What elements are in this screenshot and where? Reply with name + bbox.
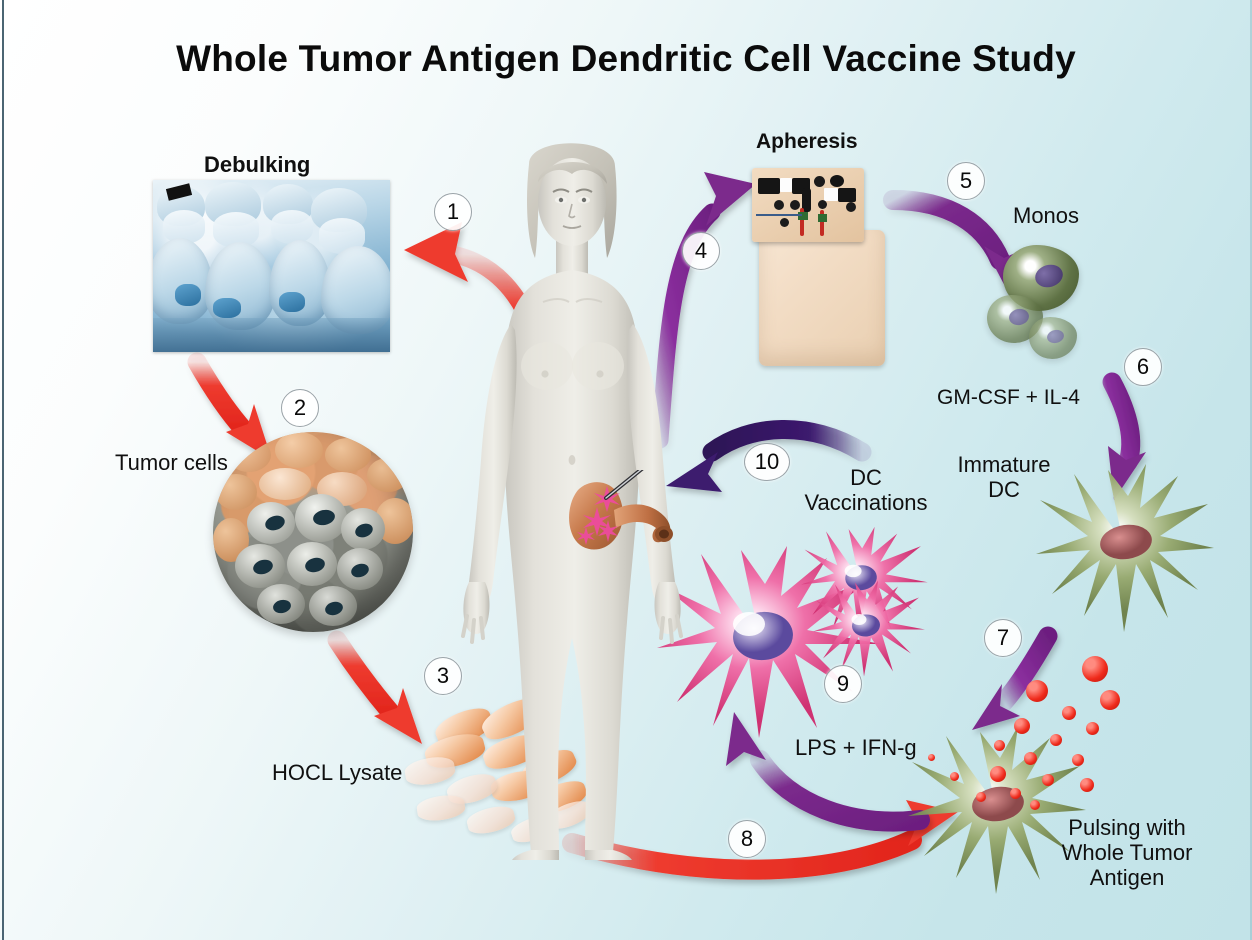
monocyte-cluster (985, 243, 1135, 373)
step-badge-3[interactable]: 3 (424, 657, 462, 695)
step-badge-9[interactable]: 9 (824, 665, 862, 703)
step-badge-4[interactable]: 4 (682, 232, 720, 270)
apheresis-machine (752, 168, 885, 366)
figure-canvas: Whole Tumor Antigen Dendritic Cell Vacci… (0, 0, 1252, 940)
gmcsf-il4-label: GM-CSF + IL-4 (937, 386, 1080, 410)
debulking-label: Debulking (204, 152, 310, 177)
step-badge-7[interactable]: 7 (984, 619, 1022, 657)
hocl-lysate-label: HOCL Lysate (272, 760, 402, 785)
tumor-cells-label: Tumor cells (115, 450, 228, 475)
dc-vaccinations-label: DC Vaccinations (786, 465, 946, 515)
mature-dc-cell-small (812, 575, 927, 685)
uterus-injection-site (548, 470, 688, 560)
step-badge-6[interactable]: 6 (1124, 348, 1162, 386)
step-badge-1[interactable]: 1 (434, 193, 472, 231)
step-badge-10[interactable]: 10 (744, 443, 790, 481)
tumor-cell-sphere (213, 432, 413, 632)
apheresis-label: Apheresis (756, 130, 858, 154)
lps-ifng-label: LPS + IFN-g (795, 735, 917, 760)
monos-label: Monos (1013, 203, 1079, 228)
pulsing-label: Pulsing with Whole Tumor Antigen (1047, 815, 1207, 890)
debulking-photo (153, 180, 390, 352)
step-badge-5[interactable]: 5 (947, 162, 985, 200)
immature-dc-cell (1028, 456, 1218, 641)
step-badge-2[interactable]: 2 (281, 389, 319, 427)
step-badge-8[interactable]: 8 (728, 820, 766, 858)
